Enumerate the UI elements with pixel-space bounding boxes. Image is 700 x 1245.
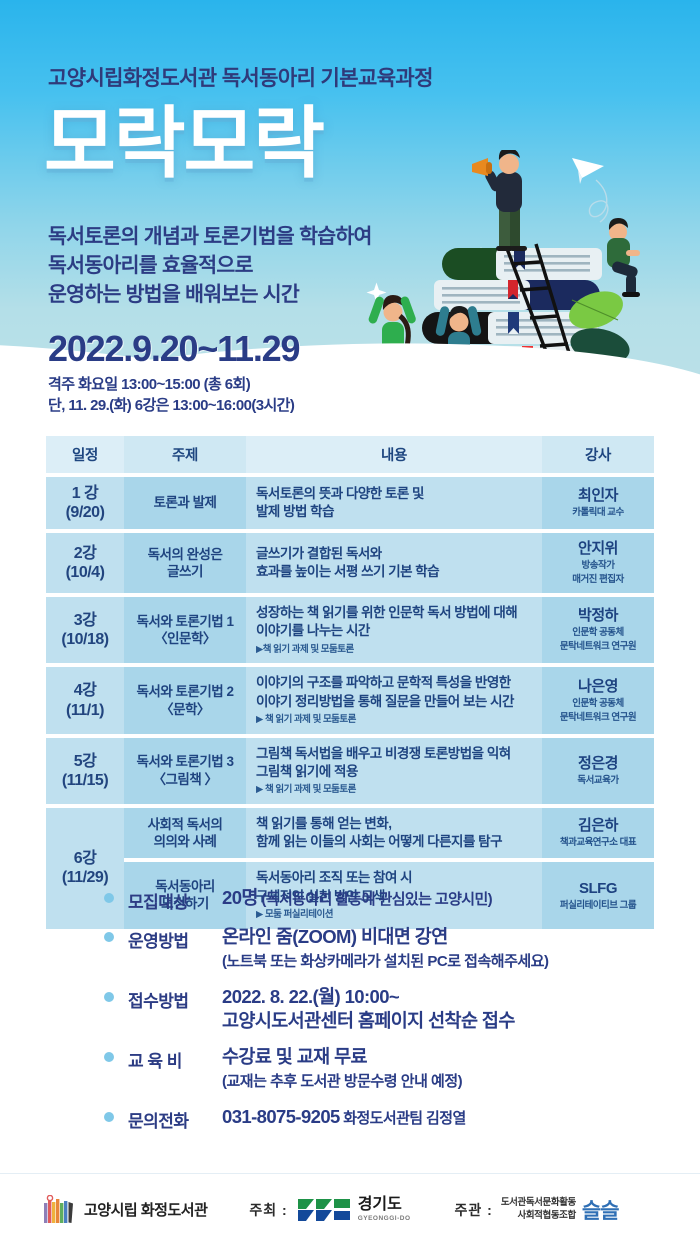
info-value: 수강료 및 교재 무료 (교재는 추후 도서관 방문수령 안내 예정)	[222, 1045, 664, 1093]
cell-topic: 독서와 토론기법 2 〈문학〉	[124, 667, 246, 733]
content-line-1: 독서동아리 조직 또는 참여 시	[256, 870, 412, 885]
content-line-1: 이야기의 구조를 파악하고 문학적 특성을 반영한	[256, 675, 511, 690]
lecturer-name: 김은하	[548, 817, 648, 835]
topic-line-1: 독서와 토론기법 3	[137, 754, 234, 769]
schedule-no: 1 강	[72, 485, 99, 502]
bullet-icon	[104, 1112, 114, 1122]
cell-content: 책 읽기를 통해 얻는 변화, 함께 읽는 이들의 사회는 어떻게 다른지를 탐…	[246, 808, 542, 858]
lead-line-3: 운영하는 방법을 배워보는 시간	[48, 280, 372, 309]
organizer-brand: 슬슬	[582, 1195, 619, 1225]
lecturer-org: 책과교육연구소 대표	[548, 837, 648, 849]
lecturer-org: 인문학 공동체	[548, 627, 648, 639]
lead-line-1: 독서토론의 개념과 토론기법을 학습하여	[48, 222, 372, 251]
bullet-icon	[104, 893, 114, 903]
info-value-main: 031-8075-9205 화정도서관팀 김정열	[222, 1105, 664, 1129]
schedule-date: (10/18)	[61, 631, 108, 648]
table-row: 6강 (11/29) 사회적 독서의 의의와 사례 책 읽기를 통해 얻는 변화…	[46, 808, 654, 858]
list-item: 문의전화 031-8075-9205 화정도서관팀 김정열	[104, 1105, 664, 1132]
lecturer-name: 최인자	[548, 487, 648, 505]
topic-line-1: 토론과 발제	[154, 495, 217, 510]
content-line-1: 독서토론의 뜻과 다양한 토론 및	[256, 486, 424, 501]
schedule-note-line-2: 단, 11. 29.(화) 6강은 13:00~16:00(3시간)	[48, 395, 294, 416]
content-line-1: 그림책 독서법을 배우고 비경쟁 토론방법을 익혀	[256, 746, 511, 761]
info-value-main: 온라인 줌(ZOOM) 비대면 강연	[222, 925, 664, 949]
table-header-row: 일정 주제 내용 강사	[46, 436, 654, 473]
cell-topic: 사회적 독서의 의의와 사례	[124, 808, 246, 858]
list-item: 운영방법 온라인 줌(ZOOM) 비대면 강연 (노트북 또는 화상카메라가 설…	[104, 925, 664, 973]
list-item: 접수방법 2022. 8. 22.(월) 10:00~ 고양시도서관센터 홈페이…	[104, 985, 664, 1033]
bullet-icon	[104, 932, 114, 942]
lecturer-org: 방송작가	[548, 560, 648, 572]
poster-root: 고양시립화정도서관 독서동아리 기본교육과정 모락모락 독서토론의 개념과 토론…	[0, 0, 700, 1245]
lead-line-2: 독서동아리를 효율적으로	[48, 251, 372, 280]
page-kicker: 고양시립화정도서관 독서동아리 기본교육과정	[48, 62, 433, 92]
topic-line-1: 독서와 토론기법 2	[137, 684, 234, 699]
info-value-main: 2022. 8. 22.(월) 10:00~	[222, 985, 664, 1009]
footer-bar: 고양시립 화정도서관 주최 : 경기도 GYEONGGI-DO 주관 : 도서관…	[0, 1173, 700, 1245]
cell-lecturer: 정은경 독서교육가	[542, 738, 654, 804]
content-line-1: 성장하는 책 읽기를 위한 인문학 독서 방법에 대해	[256, 605, 517, 620]
list-item: 모집대상 20명 (독서동아리 활동에 관심있는 고양시민)	[104, 886, 664, 913]
content-line-1: 글쓰기가 결합된 독서와	[256, 546, 382, 561]
content-note: ▶ 책 읽기 과제 및 모둠토론	[256, 784, 536, 797]
cell-content: 그림책 독서법을 배우고 비경쟁 토론방법을 익혀 그림책 읽기에 적용 ▶ 책…	[246, 738, 542, 804]
schedule-no: 6강	[74, 850, 97, 867]
library-name: 고양시립 화정도서관	[84, 1199, 207, 1220]
cell-schedule: 3강 (10/18)	[46, 597, 124, 663]
topic-line-2: 〈인문학〉	[154, 631, 216, 646]
person-sitting	[607, 218, 640, 297]
schedule-date: (11/15)	[62, 772, 108, 789]
curriculum-table: 일정 주제 내용 강사 1 강 (9/20) 토론과 발제 독서토론의 뜻과 다…	[46, 432, 654, 933]
content-line-2: 이야기를 나누는 시간	[256, 623, 370, 638]
topic-line-2: 의의와 사례	[154, 834, 217, 849]
topic-line-2: 〈문학〉	[160, 702, 210, 717]
lecturer-org-2: 문탁네트워크 연구원	[548, 641, 648, 653]
page-title: 모락모락	[44, 104, 323, 182]
cell-topic: 독서와 토론기법 1 〈인문학〉	[124, 597, 246, 663]
schedule-date: (10/4)	[66, 564, 105, 581]
col-header-topic: 주제	[124, 436, 246, 473]
organizer-desc-line-2: 사회적협동조합	[501, 1210, 576, 1222]
table-body: 1 강 (9/20) 토론과 발제 독서토론의 뜻과 다양한 토론 및 발제 방…	[46, 477, 654, 929]
schedule-note-line-1: 격주 화요일 13:00~15:00 (총 6회)	[48, 374, 294, 395]
table-row: 2강 (10/4) 독서의 완성은 글쓰기 글쓰기가 결합된 독서와 효과를 높…	[46, 533, 654, 593]
info-label: 접수방법	[128, 985, 222, 1012]
host-name: 경기도	[358, 1197, 411, 1213]
info-value: 2022. 8. 22.(월) 10:00~ 고양시도서관센터 홈페이지 선착순…	[222, 985, 664, 1033]
event-date-range: 2022.9.20~11.29	[48, 328, 299, 370]
cell-lecturer: 최인자 카톨릭대 교수	[542, 477, 654, 529]
organizer-desc: 도서관독서문화활동 사회적협동조합	[501, 1197, 576, 1222]
info-value-sub-big: 고양시도서관센터 홈페이지 선착순 접수	[222, 1009, 664, 1033]
host-name-block: 경기도 GYEONGGI-DO	[358, 1197, 411, 1222]
content-line-2: 효과를 높이는 서평 쓰기 기본 학습	[256, 564, 439, 579]
host-group: 주최 : 경기도 GYEONGGI-DO	[249, 1197, 410, 1223]
info-label: 문의전화	[128, 1105, 222, 1132]
info-value-main: 수강료 및 교재 무료	[222, 1045, 664, 1069]
phone-contact: 화정도서관팀 김정열	[340, 1110, 466, 1127]
organizer-group: 주관 : 도서관독서문화활동 사회적협동조합 슬슬	[455, 1195, 619, 1225]
info-list: 모집대상 20명 (독서동아리 활동에 관심있는 고양시민) 운영방법 온라인 …	[104, 886, 664, 1144]
cell-schedule: 1 강 (9/20)	[46, 477, 124, 529]
cell-topic: 독서와 토론기법 3 〈그림책 〉	[124, 738, 246, 804]
schedule-no: 3강	[74, 612, 97, 629]
lecturer-name: 정은경	[548, 755, 648, 773]
organizer-desc-line-1: 도서관독서문화활동	[501, 1197, 576, 1209]
content-line-1: 책 읽기를 통해 얻는 변화,	[256, 816, 391, 831]
library-logo-group: 고양시립 화정도서관	[42, 1195, 207, 1225]
lecturer-name: 박정하	[548, 607, 648, 625]
cell-content: 성장하는 책 읽기를 위한 인문학 독서 방법에 대해 이야기를 나누는 시간 …	[246, 597, 542, 663]
info-value-strong: 20명	[222, 887, 258, 908]
lecturer-org-2: 문탁네트워크 연구원	[548, 712, 648, 724]
cell-content: 이야기의 구조를 파악하고 문학적 특성을 반영한 이야기 정리방법을 통해 질…	[246, 667, 542, 733]
lecturer-org: 독서교육가	[548, 775, 648, 787]
library-books-icon	[42, 1195, 76, 1225]
info-value-sub: (교재는 추후 도서관 방문수령 안내 예정)	[222, 1071, 664, 1093]
info-value: 온라인 줌(ZOOM) 비대면 강연 (노트북 또는 화상카메라가 설치된 PC…	[222, 925, 664, 973]
col-header-content: 내용	[246, 436, 542, 473]
table-row: 3강 (10/18) 독서와 토론기법 1 〈인문학〉 성장하는 책 읽기를 위…	[46, 597, 654, 663]
topic-line-1: 독서와 토론기법 1	[137, 614, 234, 629]
schedule-date: (11/29)	[62, 869, 108, 886]
table-row: 5강 (11/15) 독서와 토론기법 3 〈그림책 〉 그림책 독서법을 배우…	[46, 738, 654, 804]
info-value-main: 20명 (독서동아리 활동에 관심있는 고양시민)	[222, 886, 664, 910]
content-line-2: 함께 읽는 이들의 사회는 어떻게 다른지를 탐구	[256, 834, 502, 849]
lecturer-org: 카톨릭대 교수	[548, 507, 648, 519]
organizer-label: 주관 :	[455, 1200, 493, 1220]
lead-paragraph: 독서토론의 개념과 토론기법을 학습하여 독서동아리를 효율적으로 운영하는 방…	[48, 222, 372, 309]
topic-line-1: 사회적 독서의	[148, 817, 223, 832]
info-value: 031-8075-9205 화정도서관팀 김정열	[222, 1105, 664, 1129]
content-note: ▶ 책 읽기 과제 및 모둠토론	[256, 714, 536, 727]
host-label: 주최 :	[249, 1200, 287, 1220]
content-note: ▶책 읽기 과제 및 모둠토론	[256, 644, 536, 657]
hero-banner: 고양시립화정도서관 독서동아리 기본교육과정 모락모락 독서토론의 개념과 토론…	[0, 0, 700, 430]
col-header-schedule: 일정	[46, 436, 124, 473]
cell-topic: 토론과 발제	[124, 477, 246, 529]
event-schedule-note: 격주 화요일 13:00~15:00 (총 6회) 단, 11. 29.(화) …	[48, 374, 294, 417]
info-label: 운영방법	[128, 925, 222, 952]
cell-schedule: 4강 (11/1)	[46, 667, 124, 733]
content-line-2: 이야기 정리방법을 통해 질문을 만들어 보는 시간	[256, 694, 514, 709]
lecturer-name: 안지위	[548, 540, 648, 558]
phone-number: 031-8075-9205	[222, 1106, 340, 1127]
topic-line-2: 〈그림책 〉	[152, 772, 217, 787]
swirl-decoration	[589, 180, 607, 222]
cell-content: 글쓰기가 결합된 독서와 효과를 높이는 서평 쓰기 기본 학습	[246, 533, 542, 593]
topic-line-2: 글쓰기	[167, 564, 203, 579]
cell-lecturer: 박정하 인문학 공동체 문탁네트워크 연구원	[542, 597, 654, 663]
list-item: 교 육 비 수강료 및 교재 무료 (교재는 추후 도서관 방문수령 안내 예정…	[104, 1045, 664, 1093]
host-name-romanized: GYEONGGI-DO	[358, 1215, 411, 1222]
cell-content: 독서토론의 뜻과 다양한 토론 및 발제 방법 학습	[246, 477, 542, 529]
table-row: 1 강 (9/20) 토론과 발제 독서토론의 뜻과 다양한 토론 및 발제 방…	[46, 477, 654, 529]
schedule-date: (11/1)	[66, 702, 104, 719]
gyeonggi-logo-icon	[296, 1197, 352, 1223]
info-label: 교 육 비	[128, 1045, 222, 1072]
table-head: 일정 주제 내용 강사	[46, 436, 654, 473]
lecturer-org-2: 매거진 편집자	[548, 574, 648, 586]
table-row: 4강 (11/1) 독서와 토론기법 2 〈문학〉 이야기의 구조를 파악하고 …	[46, 667, 654, 733]
schedule-no: 4강	[74, 682, 97, 699]
lecturer-name: 나은영	[548, 678, 648, 696]
topic-line-1: 독서의 완성은	[148, 547, 223, 562]
col-header-lecturer: 강사	[542, 436, 654, 473]
cell-schedule: 2강 (10/4)	[46, 533, 124, 593]
schedule-date: (9/20)	[66, 504, 105, 521]
cell-topic: 독서의 완성은 글쓰기	[124, 533, 246, 593]
cell-lecturer: 나은영 인문학 공동체 문탁네트워크 연구원	[542, 667, 654, 733]
cell-lecturer: 김은하 책과교육연구소 대표	[542, 808, 654, 858]
schedule-no: 5강	[74, 753, 97, 770]
bullet-icon	[104, 992, 114, 1002]
paper-plane-icon	[572, 158, 604, 184]
cell-schedule: 5강 (11/15)	[46, 738, 124, 804]
lecturer-org: 인문학 공동체	[548, 698, 648, 710]
person-megaphone	[472, 150, 527, 251]
info-value: 20명 (독서동아리 활동에 관심있는 고양시민)	[222, 886, 664, 910]
content-line-2: 그림책 읽기에 적용	[256, 764, 358, 779]
bullet-icon	[104, 1052, 114, 1062]
cell-lecturer: 안지위 방송작가 매거진 편집자	[542, 533, 654, 593]
content-line-2: 발제 방법 학습	[256, 504, 334, 519]
schedule-no: 2강	[74, 545, 97, 562]
info-label: 모집대상	[128, 886, 222, 913]
info-value-sub: (노트북 또는 화상카메라가 설치된 PC로 접속해주세요)	[222, 951, 664, 973]
info-value-paren: (독서동아리 활동에 관심있는 고양시민)	[258, 891, 492, 908]
